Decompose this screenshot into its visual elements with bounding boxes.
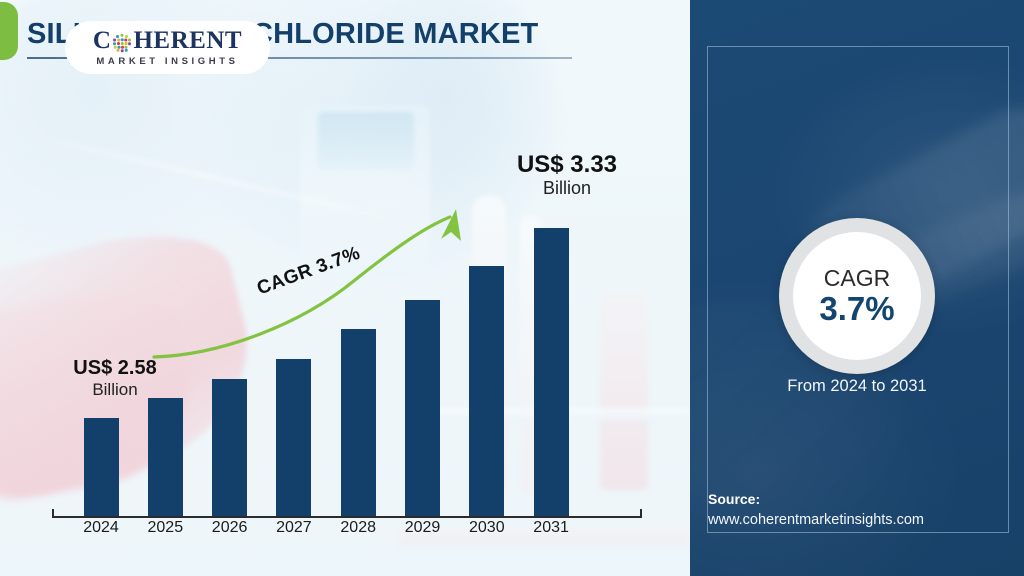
cagr-badge: CAGR 3.7% [779, 218, 935, 374]
cagr-badge-inner: CAGR 3.7% [793, 232, 921, 360]
forecast-range: From 2024 to 2031 [690, 377, 1024, 396]
x-axis-label-2025: 2025 [130, 519, 200, 537]
x-axis-tick-right [640, 509, 642, 518]
logo-wordmark: C [93, 28, 242, 53]
x-axis-label-2024: 2024 [66, 519, 136, 537]
cagr-label: CAGR [824, 266, 890, 291]
globe-icon [112, 33, 132, 53]
bars-layer: 20242025202620272028202920302031 [0, 0, 690, 576]
x-axis-line [52, 516, 642, 518]
x-axis-label-2030: 2030 [452, 519, 522, 537]
bar-2027 [276, 359, 311, 517]
cagr-value: 3.7% [819, 292, 894, 327]
source-label: Source: [708, 489, 1008, 510]
bar-2030 [469, 266, 504, 517]
bar-2029 [405, 300, 440, 517]
infographic-canvas: SILICON TETRACHLORIDE MARKET US$ 2.58 Bi… [0, 0, 1024, 576]
bar-chart: US$ 2.58 Billion US$ 3.33 Billion CAGR 3… [0, 0, 690, 576]
bar-2024 [84, 418, 119, 517]
logo-letter-c: C [93, 28, 112, 53]
x-axis-label-2029: 2029 [388, 519, 458, 537]
logo-tagline: MARKET INSIGHTS [96, 56, 238, 67]
x-axis-label-2027: 2027 [259, 519, 329, 537]
bar-2031 [534, 228, 569, 517]
source-block: Source: www.coherentmarketinsights.com [708, 489, 1008, 532]
x-axis-label-2028: 2028 [323, 519, 393, 537]
x-axis-label-2031: 2031 [516, 519, 586, 537]
x-axis-label-2026: 2026 [195, 519, 265, 537]
bar-2026 [212, 379, 247, 517]
company-logo[interactable]: C [65, 21, 270, 74]
bar-2025 [148, 398, 183, 517]
bar-2028 [341, 329, 376, 517]
logo-text-rest: HERENT [133, 28, 242, 53]
x-axis-tick-left [52, 509, 54, 518]
source-url[interactable]: www.coherentmarketinsights.com [708, 510, 1008, 532]
